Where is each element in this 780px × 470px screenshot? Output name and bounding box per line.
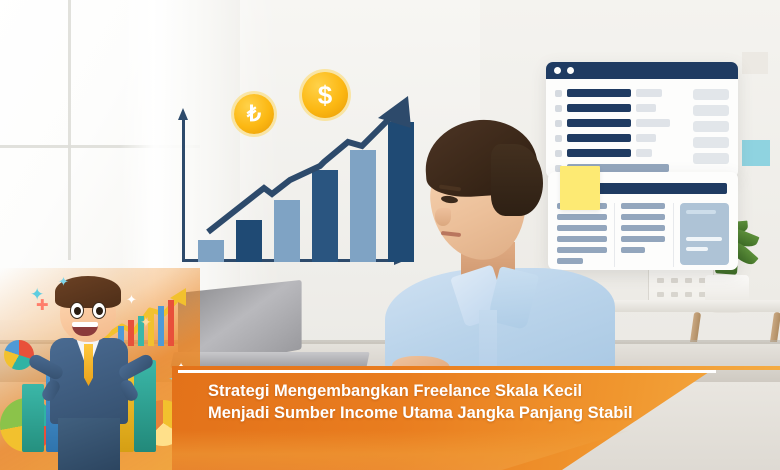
- side-block: [693, 153, 729, 164]
- list-row-tag: [636, 149, 652, 157]
- nose: [435, 208, 451, 226]
- sparkle-icon: ✦: [30, 285, 44, 305]
- panel-line: [686, 210, 716, 214]
- promo-banner-image: ₺ $: [0, 0, 780, 470]
- window-mullion-vertical: [68, 0, 71, 260]
- panel-line: [686, 247, 708, 251]
- banner-title: Strategi Mengembangkan Freelance Skala K…: [208, 380, 708, 424]
- window-dot: [554, 67, 561, 74]
- list-row-bar: [567, 104, 631, 112]
- list-row-tag: [636, 134, 656, 142]
- doc-column-2: [621, 203, 666, 267]
- shelf: [600, 300, 780, 312]
- coin-lira-icon: ₺: [234, 94, 274, 134]
- banner-fade: [172, 430, 780, 470]
- side-block: [693, 105, 729, 116]
- column-divider: [673, 203, 674, 267]
- sparkle-icon: ✦: [140, 314, 152, 331]
- banner-top-rule: [178, 370, 716, 373]
- list-bullet: [555, 105, 562, 112]
- doc-line: [621, 225, 665, 231]
- doc-line: [621, 203, 665, 209]
- list-row-bar: [567, 89, 631, 97]
- mascot-pupil-left: [74, 307, 81, 315]
- paper-note: [742, 52, 768, 74]
- mascot-legs: [58, 418, 120, 470]
- banner-title-line-2: Menjadi Sumber Income Utama Jangka Panja…: [208, 402, 708, 424]
- trend-arrow-icon: [172, 84, 412, 270]
- window-dot: [567, 67, 574, 74]
- list-bullet: [555, 90, 562, 97]
- panel-line: [686, 237, 722, 241]
- side-block: [693, 137, 729, 148]
- coin-dollar-icon: $: [302, 72, 348, 118]
- blue-sticky-note: [742, 140, 770, 166]
- list-row-tag: [636, 89, 662, 97]
- document-navbar: [583, 183, 727, 194]
- sparkle-icon: ✦: [58, 274, 69, 290]
- browser-titlebar: [546, 62, 738, 79]
- title-banner: Strategi Mengembangkan Freelance Skala K…: [172, 366, 780, 470]
- mascot-teeth: [72, 322, 98, 327]
- list-row-tag: [636, 119, 670, 127]
- young-man-at-laptop: [395, 120, 585, 380]
- side-block: [693, 121, 729, 132]
- doc-line: [621, 247, 645, 253]
- doc-line: [621, 214, 665, 220]
- mascot-pupil-right: [96, 307, 103, 315]
- sparkle-icon: ✦: [126, 292, 137, 308]
- mascot-tie: [84, 344, 93, 386]
- column-divider: [614, 203, 615, 267]
- bar-3d: [22, 384, 44, 452]
- side-panel: [693, 89, 729, 164]
- list-row-tag: [636, 104, 656, 112]
- growth-bar-chart: ₺ $: [172, 84, 412, 270]
- doc-line: [621, 236, 665, 242]
- banner-title-line-1: Strategi Mengembangkan Freelance Skala K…: [208, 380, 708, 402]
- side-block: [693, 89, 729, 100]
- doc-side-panel: [680, 203, 729, 265]
